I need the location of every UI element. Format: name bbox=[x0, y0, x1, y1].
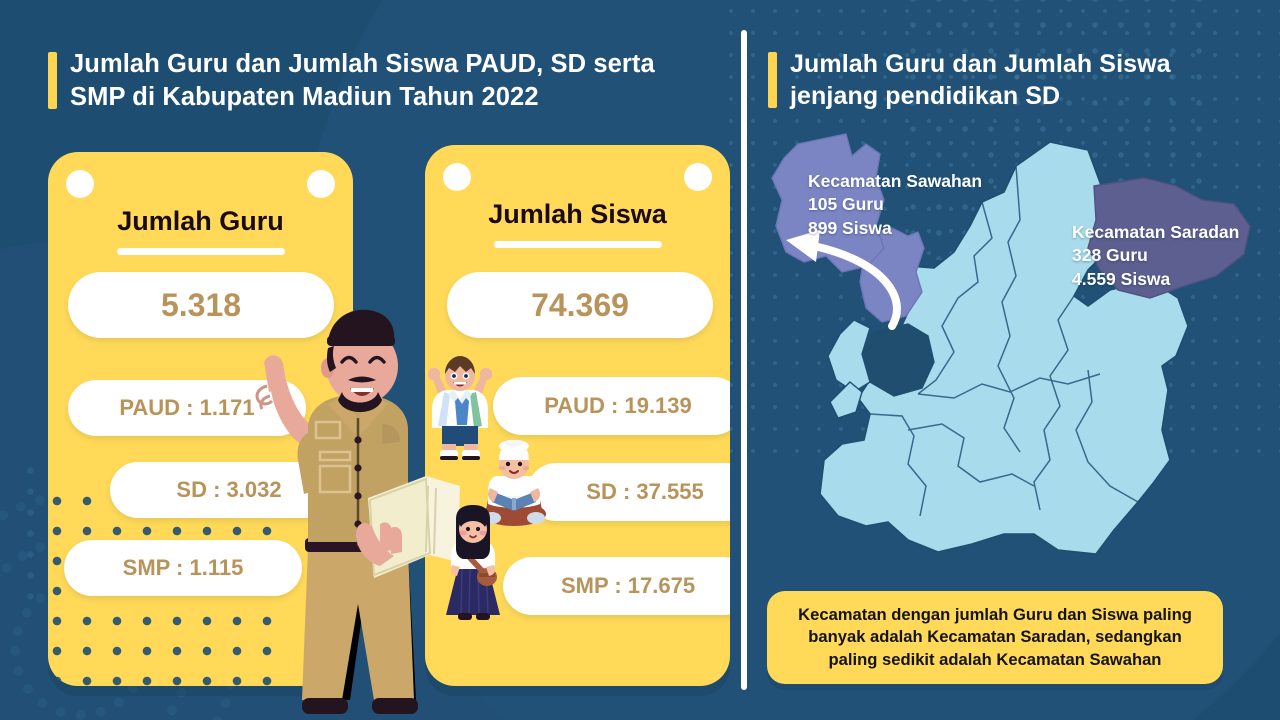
map-label-sawahan: Kecamatan Sawahan 105 Guru 899 Siswa bbox=[808, 170, 982, 240]
card-peg-right-icon bbox=[684, 163, 712, 191]
siswa-total-value: 74.369 bbox=[447, 272, 713, 338]
map-label-saradan-guru: 328 Guru bbox=[1072, 244, 1239, 267]
map-label-sawahan-siswa: 899 Siswa bbox=[808, 217, 982, 240]
siswa-smp-row: SMP : 17.675 bbox=[503, 557, 730, 615]
map-label-saradan-name: Kecamatan Saradan bbox=[1072, 221, 1239, 244]
card-peg-right-icon bbox=[307, 170, 335, 198]
siswa-sd-row: SD : 37.555 bbox=[527, 463, 730, 521]
infographic-canvas: Jumlah Guru dan Jumlah Siswa PAUD, SD se… bbox=[0, 0, 1280, 720]
panel-divider bbox=[741, 30, 747, 690]
card-title-guru: Jumlah Guru bbox=[48, 206, 353, 237]
left-panel-title: Jumlah Guru dan Jumlah Siswa PAUD, SD se… bbox=[70, 48, 710, 113]
map-label-sawahan-name: Kecamatan Sawahan bbox=[808, 170, 982, 193]
map-caption: Kecamatan dengan jumlah Guru dan Siswa p… bbox=[767, 591, 1223, 684]
map-label-sawahan-guru: 105 Guru bbox=[808, 193, 982, 216]
right-panel-title-text: Jumlah Guru dan Jumlah Siswa jenjang pen… bbox=[790, 50, 1171, 110]
card-title-siswa: Jumlah Siswa bbox=[425, 199, 730, 230]
right-panel-title: Jumlah Guru dan Jumlah Siswa jenjang pen… bbox=[790, 48, 1230, 112]
title-accent-bar bbox=[48, 52, 57, 109]
student-girl-illustration bbox=[440, 505, 506, 625]
card-peg-left-icon bbox=[66, 170, 94, 198]
card-title-underline bbox=[494, 241, 662, 248]
siswa-paud-row: PAUD : 19.139 bbox=[493, 377, 730, 435]
card-title-underline bbox=[117, 248, 285, 255]
title-accent-bar bbox=[768, 52, 777, 108]
map-label-saradan-siswa: 4.559 Siswa bbox=[1072, 268, 1239, 291]
map-label-saradan: Kecamatan Saradan 328 Guru 4.559 Siswa bbox=[1072, 221, 1239, 291]
card-peg-left-icon bbox=[443, 163, 471, 191]
left-panel-title-text: Jumlah Guru dan Jumlah Siswa PAUD, SD se… bbox=[70, 50, 655, 111]
